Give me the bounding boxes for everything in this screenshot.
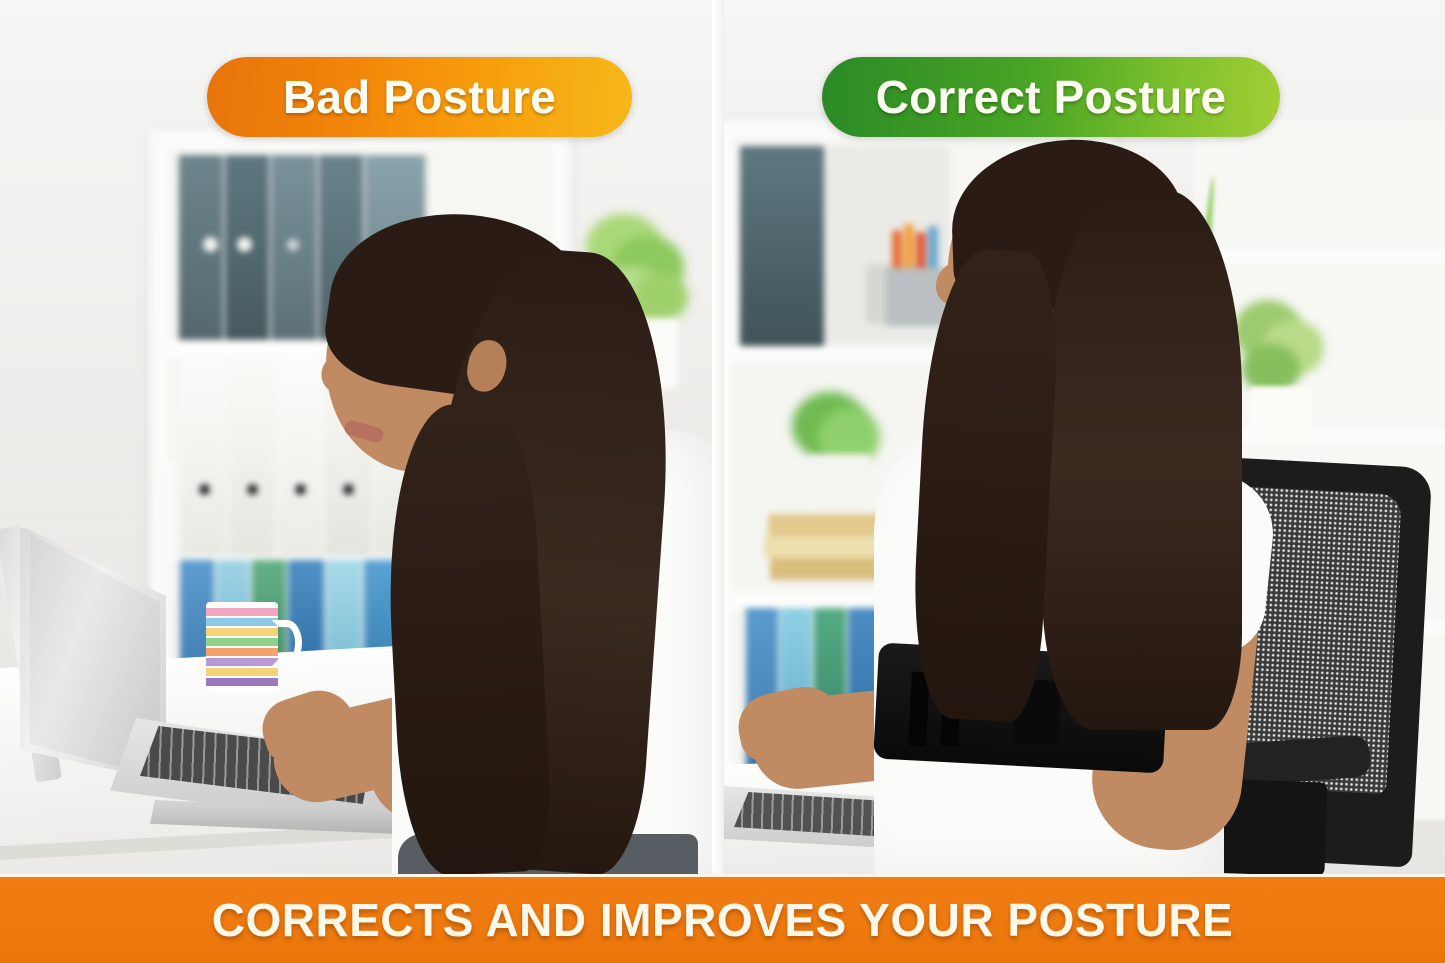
bottom-banner: CORRECTS AND IMPROVES YOUR POSTURE [0, 874, 1445, 963]
badge-bad-posture: Bad Posture [207, 57, 632, 137]
poster-root: Bad Posture Correct Posture CORRECTS AND… [0, 0, 1445, 963]
badge-correct-posture: Correct Posture [822, 57, 1280, 137]
badge-bad-label: Bad Posture [283, 70, 556, 124]
mug-handle [272, 620, 302, 666]
panel-divider [712, 0, 724, 874]
badge-correct-label: Correct Posture [876, 70, 1227, 124]
bottom-banner-text: CORRECTS AND IMPROVES YOUR POSTURE [212, 893, 1233, 947]
